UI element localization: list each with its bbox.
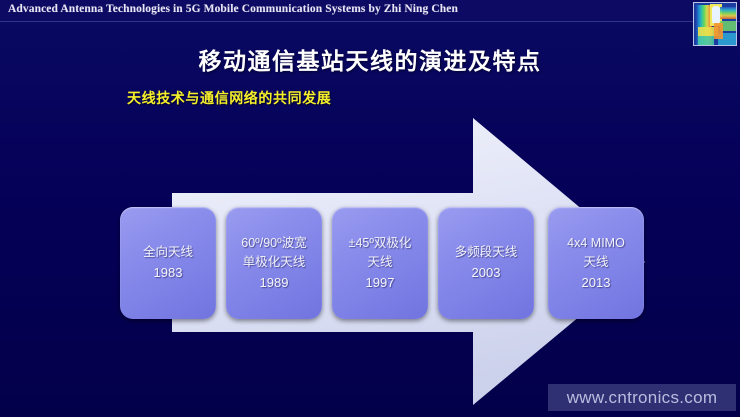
slide-canvas: Advanced Antenna Technologies in 5G Mobi… [0, 0, 740, 417]
stage-label-line: 60º/90º波宽 [241, 234, 306, 253]
watermark: www.cntronics.com [548, 384, 736, 411]
stage-year: 2013 [582, 272, 611, 293]
stage-box[interactable]: 4x4 MIMO 天线 2013 [548, 207, 644, 319]
stage-label-line: ±45º双极化 [349, 234, 412, 253]
stage-label-line: 4x4 MIMO [567, 234, 625, 253]
stage-box[interactable]: 60º/90º波宽 单极化天线 1989 [226, 207, 322, 319]
stage-year: 1997 [366, 272, 395, 293]
stage-year: 2003 [472, 262, 501, 283]
stage-label-line: 天线 [583, 253, 608, 272]
stage-box[interactable]: 多频段天线 2003 [438, 207, 534, 319]
stage-year: 1983 [154, 262, 183, 283]
stage-box[interactable]: 全向天线 1983 [120, 207, 216, 319]
stage-year: 1989 [260, 272, 289, 293]
watermark-text: www.cntronics.com [567, 388, 718, 408]
stage-box[interactable]: ±45º双极化 天线 1997 [332, 207, 428, 319]
stage-label-line: 多频段天线 [455, 243, 518, 262]
stage-label-line: 全向天线 [143, 243, 193, 262]
stage-label-line: 单极化天线 [243, 253, 306, 272]
stage-label-line: 天线 [367, 253, 392, 272]
